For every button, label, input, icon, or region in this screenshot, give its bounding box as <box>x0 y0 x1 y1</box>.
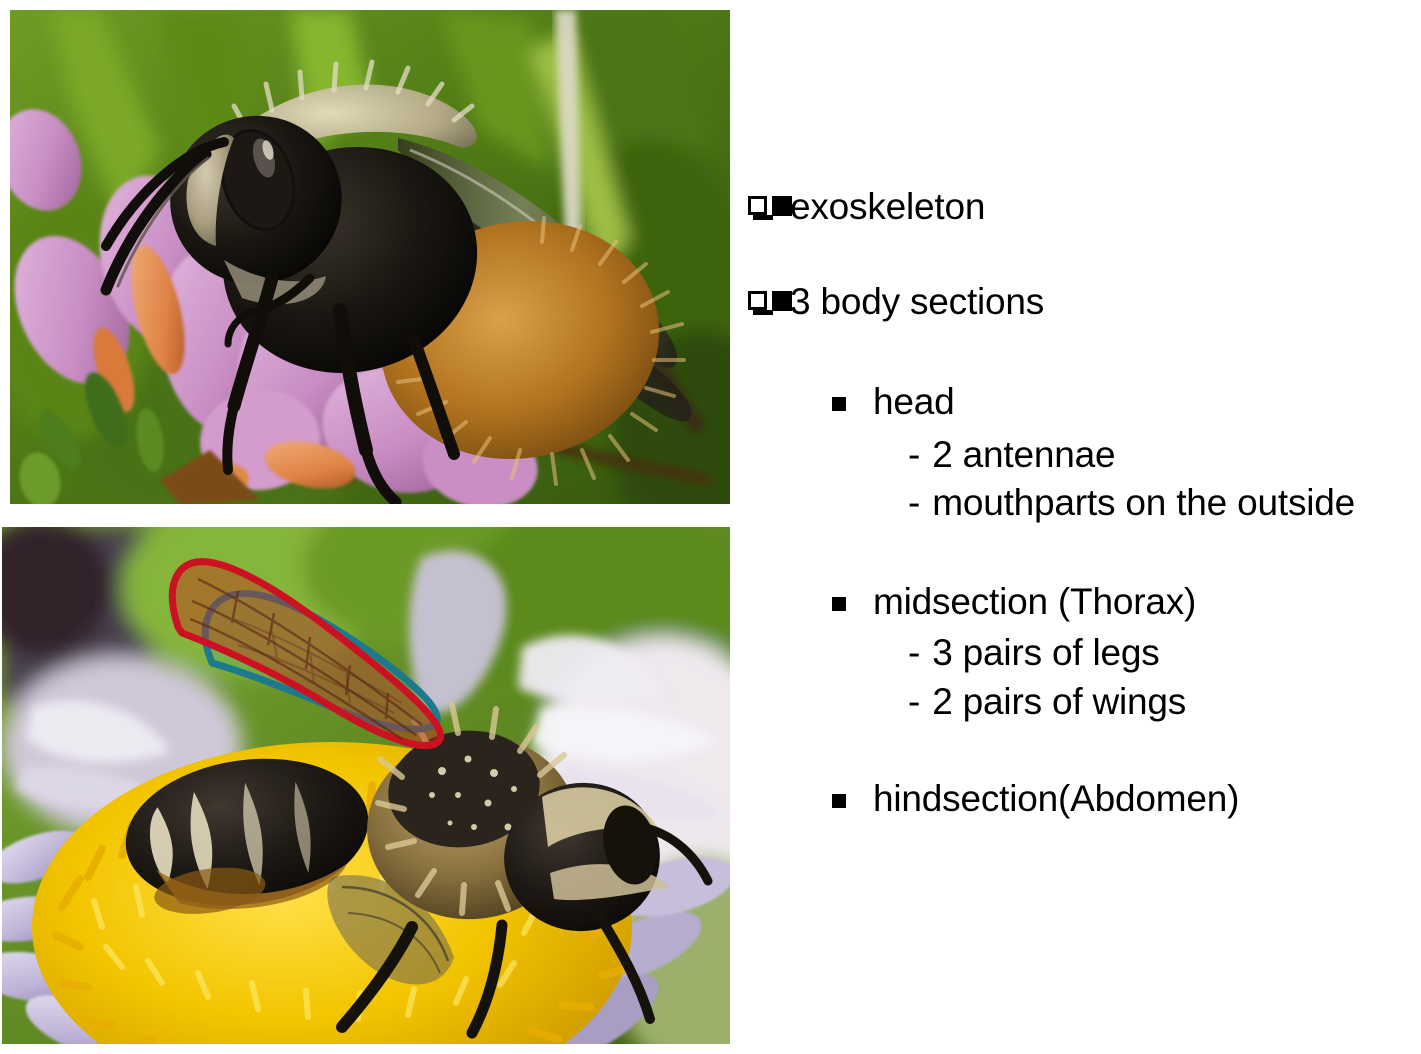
outline-item-exoskeleton[interactable]: exoskeleton <box>748 188 985 225</box>
leafcutter-bee-on-daisy-photo <box>2 527 730 1044</box>
outline-item-midsection[interactable]: midsection (Thorax) <box>832 583 1196 620</box>
outline-item-label: 3 body sections <box>790 281 1044 322</box>
outline-item-head[interactable]: head <box>832 383 955 420</box>
outline-item-label: 2 antennae <box>932 434 1115 475</box>
filled-square-bullet-icon <box>832 794 846 808</box>
bumblebee-photo-artwork <box>10 10 730 504</box>
dash-bullet-icon: - <box>908 482 920 523</box>
slide-canvas: exoskeleton 3 body sections head - 2 ant… <box>0 0 1421 1054</box>
outline-item-label: mouthparts on the outside <box>932 482 1355 523</box>
outline-item-label: head <box>873 381 955 422</box>
outline-item-body-sections[interactable]: 3 body sections <box>748 283 1044 320</box>
filled-square-bullet-icon <box>832 397 846 411</box>
dash-bullet-icon: - <box>908 681 920 722</box>
outline-item-label: midsection (Thorax) <box>873 581 1196 622</box>
bumblebee-on-heather-photo <box>10 10 730 504</box>
dash-bullet-icon: - <box>908 434 920 475</box>
dash-bullet-icon: - <box>908 632 920 673</box>
outline-item-label: 3 pairs of legs <box>932 632 1159 673</box>
hollow-square-bullet-icon <box>748 196 773 221</box>
bee-on-daisy-artwork <box>2 527 730 1044</box>
outline-item-mouthparts[interactable]: - mouthparts on the outside <box>908 484 1355 521</box>
outline-item-label: hindsection(Abdomen) <box>873 778 1239 819</box>
outline-item-hindsection[interactable]: hindsection(Abdomen) <box>832 780 1239 817</box>
outline-item-legs[interactable]: - 3 pairs of legs <box>908 634 1160 671</box>
hollow-square-bullet-icon <box>748 291 773 316</box>
outline-item-wings[interactable]: - 2 pairs of wings <box>908 683 1186 720</box>
outline-item-antennae[interactable]: - 2 antennae <box>908 436 1115 473</box>
outline-item-label: exoskeleton <box>790 186 985 227</box>
anatomy-outline: exoskeleton 3 body sections head - 2 ant… <box>736 0 1421 1054</box>
filled-square-bullet-icon <box>832 597 846 611</box>
outline-item-label: 2 pairs of wings <box>932 681 1186 722</box>
